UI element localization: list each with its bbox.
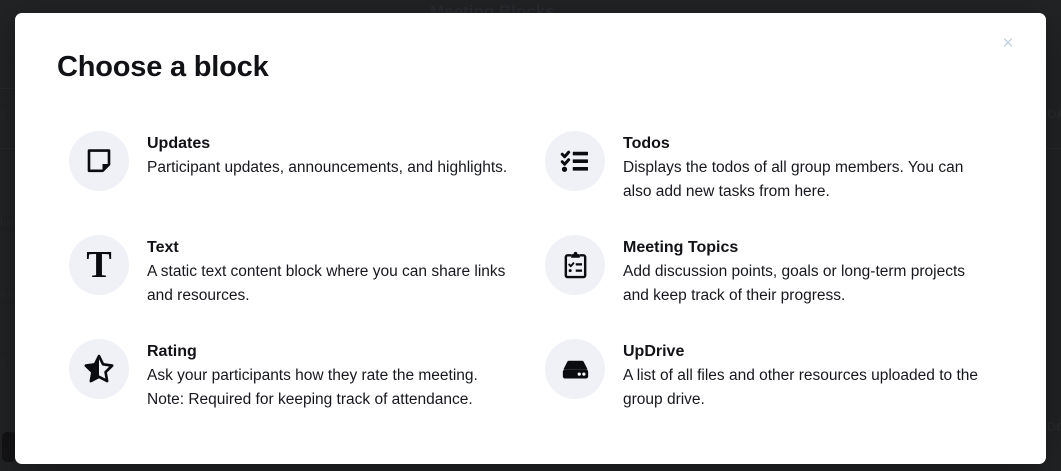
block-description: Add discussion points, goals or long-ter… [623,260,995,308]
block-list: Updates Participant updates, announcemen… [57,117,1005,429]
clipboard-list-icon [545,235,605,295]
block-description: A static text content block where you ca… [147,260,519,308]
block-description: Displays the todos of all group members.… [623,156,995,204]
block-title: Rating [147,342,519,362]
half-star-icon [69,339,129,399]
block-title: Text [147,238,519,258]
checklist-icon [545,131,605,191]
block-title: Todos [623,134,995,154]
block-text: Text A static text content block where y… [147,233,519,308]
block-text: UpDrive A list of all files and other re… [623,337,995,412]
page-title: Choose a block [57,51,269,84]
block-title: Updates [147,134,507,154]
note-icon [69,131,129,191]
close-icon[interactable]: × [996,31,1020,55]
block-option-todos[interactable]: Todos Displays the todos of all group me… [533,117,1005,221]
block-text: Meeting Topics Add discussion points, go… [623,233,995,308]
block-title: UpDrive [623,342,995,362]
choose-block-dialog: × Choose a block Updates Participant upd… [15,13,1046,464]
page-root: Meeting Blocks s lar sio s UPDATES TODOS… [0,0,1061,471]
text-t-icon: T [69,235,129,295]
block-option-rating[interactable]: Rating Ask your participants how they ra… [57,325,529,429]
block-option-text[interactable]: T Text A static text content block where… [57,221,529,325]
block-text: Updates Participant updates, announcemen… [147,129,507,180]
block-option-updates[interactable]: Updates Participant updates, announcemen… [57,117,529,221]
block-title: Meeting Topics [623,238,995,258]
block-option-meeting-topics[interactable]: Meeting Topics Add discussion points, go… [533,221,1005,325]
block-description: Participant updates, announcements, and … [147,156,507,180]
block-description: Ask your participants how they rate the … [147,364,519,412]
block-description: A list of all files and other resources … [623,364,995,412]
text-t-glyph: T [86,246,111,284]
hard-drive-icon [545,339,605,399]
block-text: Rating Ask your participants how they ra… [147,337,519,412]
block-option-updrive[interactable]: UpDrive A list of all files and other re… [533,325,1005,429]
block-text: Todos Displays the todos of all group me… [623,129,995,204]
